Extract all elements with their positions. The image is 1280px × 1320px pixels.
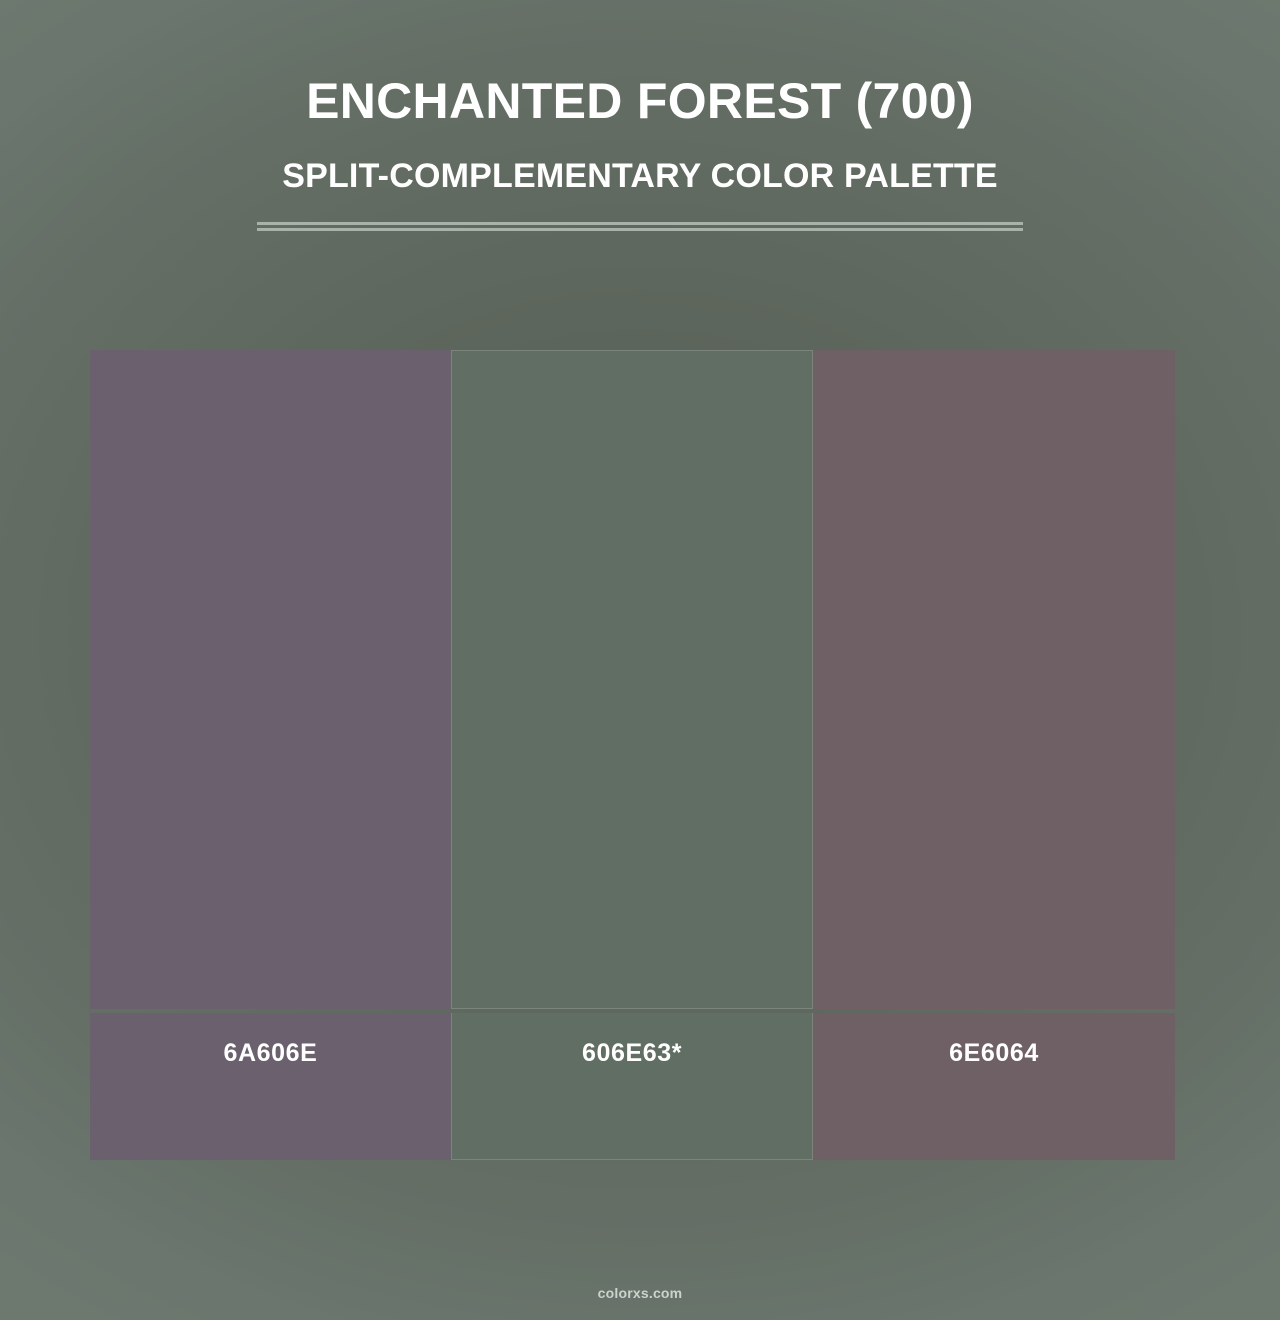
color-label-cell[interactable]: 6E6064 [813, 1013, 1175, 1160]
swatch-column-3[interactable] [813, 350, 1175, 1009]
title-divider [257, 222, 1023, 231]
color-palette: 6A606E 606E63* 6E6064 [90, 350, 1175, 1160]
swatch-label-column-2[interactable]: 606E63* [451, 1013, 813, 1160]
page-subtitle: SPLIT-COMPLEMENTARY COLOR PALETTE [0, 154, 1280, 198]
swatch-column-2[interactable] [451, 350, 813, 1009]
page-footer: colorxs.com [0, 1285, 1280, 1303]
site-credit[interactable]: colorxs.com [598, 1285, 683, 1301]
color-swatch[interactable] [813, 350, 1175, 1009]
color-label-cell[interactable]: 606E63* [451, 1013, 813, 1160]
divider-rule-top [257, 222, 1023, 225]
color-label-cell[interactable]: 6A606E [90, 1013, 451, 1160]
swatch-block-row [90, 350, 1175, 1009]
palette-page: ENCHANTED FOREST (700) SPLIT-COMPLEMENTA… [0, 0, 1280, 1320]
color-hex-label: 6E6064 [949, 1039, 1039, 1068]
color-swatch[interactable] [90, 350, 451, 1009]
swatch-label-column-3[interactable]: 6E6064 [813, 1013, 1175, 1160]
page-header: ENCHANTED FOREST (700) SPLIT-COMPLEMENTA… [0, 0, 1280, 231]
color-hex-label: 6A606E [224, 1039, 318, 1068]
color-swatch[interactable] [451, 350, 813, 1009]
swatch-column-1[interactable] [90, 350, 451, 1009]
swatch-label-column-1[interactable]: 6A606E [90, 1013, 451, 1160]
page-title: ENCHANTED FOREST (700) [0, 72, 1280, 130]
divider-rule-bottom [257, 228, 1023, 231]
swatch-label-row: 6A606E 606E63* 6E6064 [90, 1013, 1175, 1160]
color-hex-label: 606E63* [582, 1039, 682, 1068]
